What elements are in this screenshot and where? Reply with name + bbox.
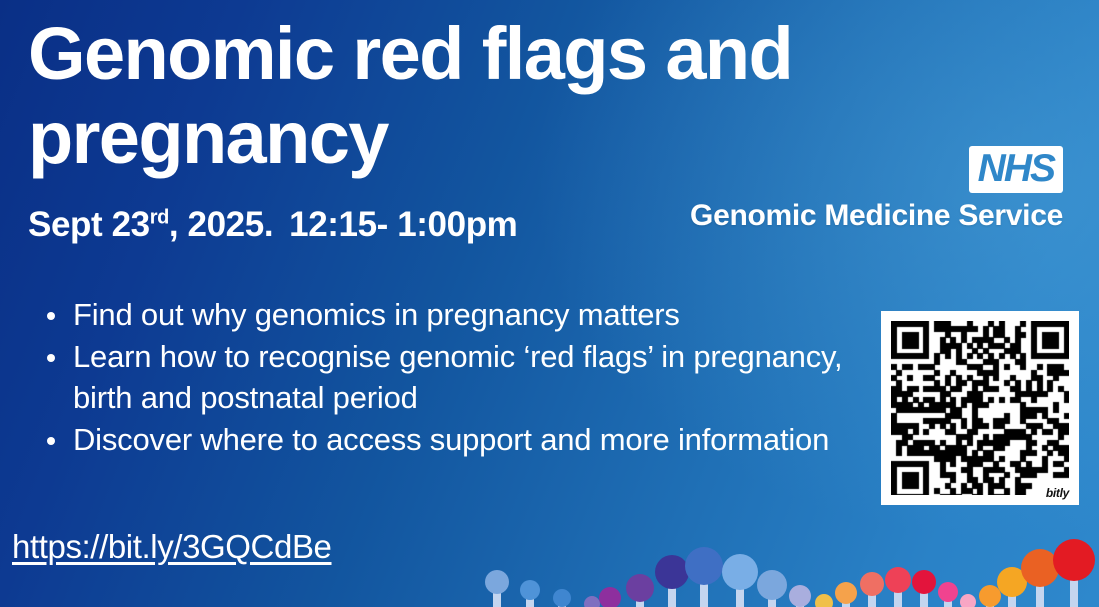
event-date-ordinal: rd [150,206,169,228]
event-date-suffix: , 2025. [169,205,273,244]
bitly-wordmark: bitly [1044,486,1071,500]
qr-code-canvas [891,321,1069,495]
qr-code-matrix [891,321,1069,495]
list-item: Discover where to access support and mor… [42,419,862,460]
list-item: Learn how to recognise genomic ‘red flag… [42,336,862,418]
qr-code[interactable]: bitly [881,311,1079,505]
event-date-prefix: Sept 23 [28,205,150,244]
title-line-1: Genomic red flags and [28,12,1028,96]
dna-lollipop-wave-decoration [0,517,1099,607]
event-time: 12:15- 1:00pm [289,205,517,244]
lollipop-graphic [0,517,1099,607]
event-datetime: Sept 23rd, 2025.12:15- 1:00pm [28,205,517,245]
nhs-branding: NHS Genomic Medicine Service [690,146,1063,233]
promotional-poster: Genomic red flags and pregnancy Sept 23r… [0,0,1099,607]
benefits-list: Find out why genomics in pregnancy matte… [42,294,862,461]
nhs-strapline: Genomic Medicine Service [690,199,1063,233]
nhs-logo: NHS [969,146,1063,193]
nhs-logo-text: NHS [978,149,1054,189]
list-item: Find out why genomics in pregnancy matte… [42,294,862,335]
